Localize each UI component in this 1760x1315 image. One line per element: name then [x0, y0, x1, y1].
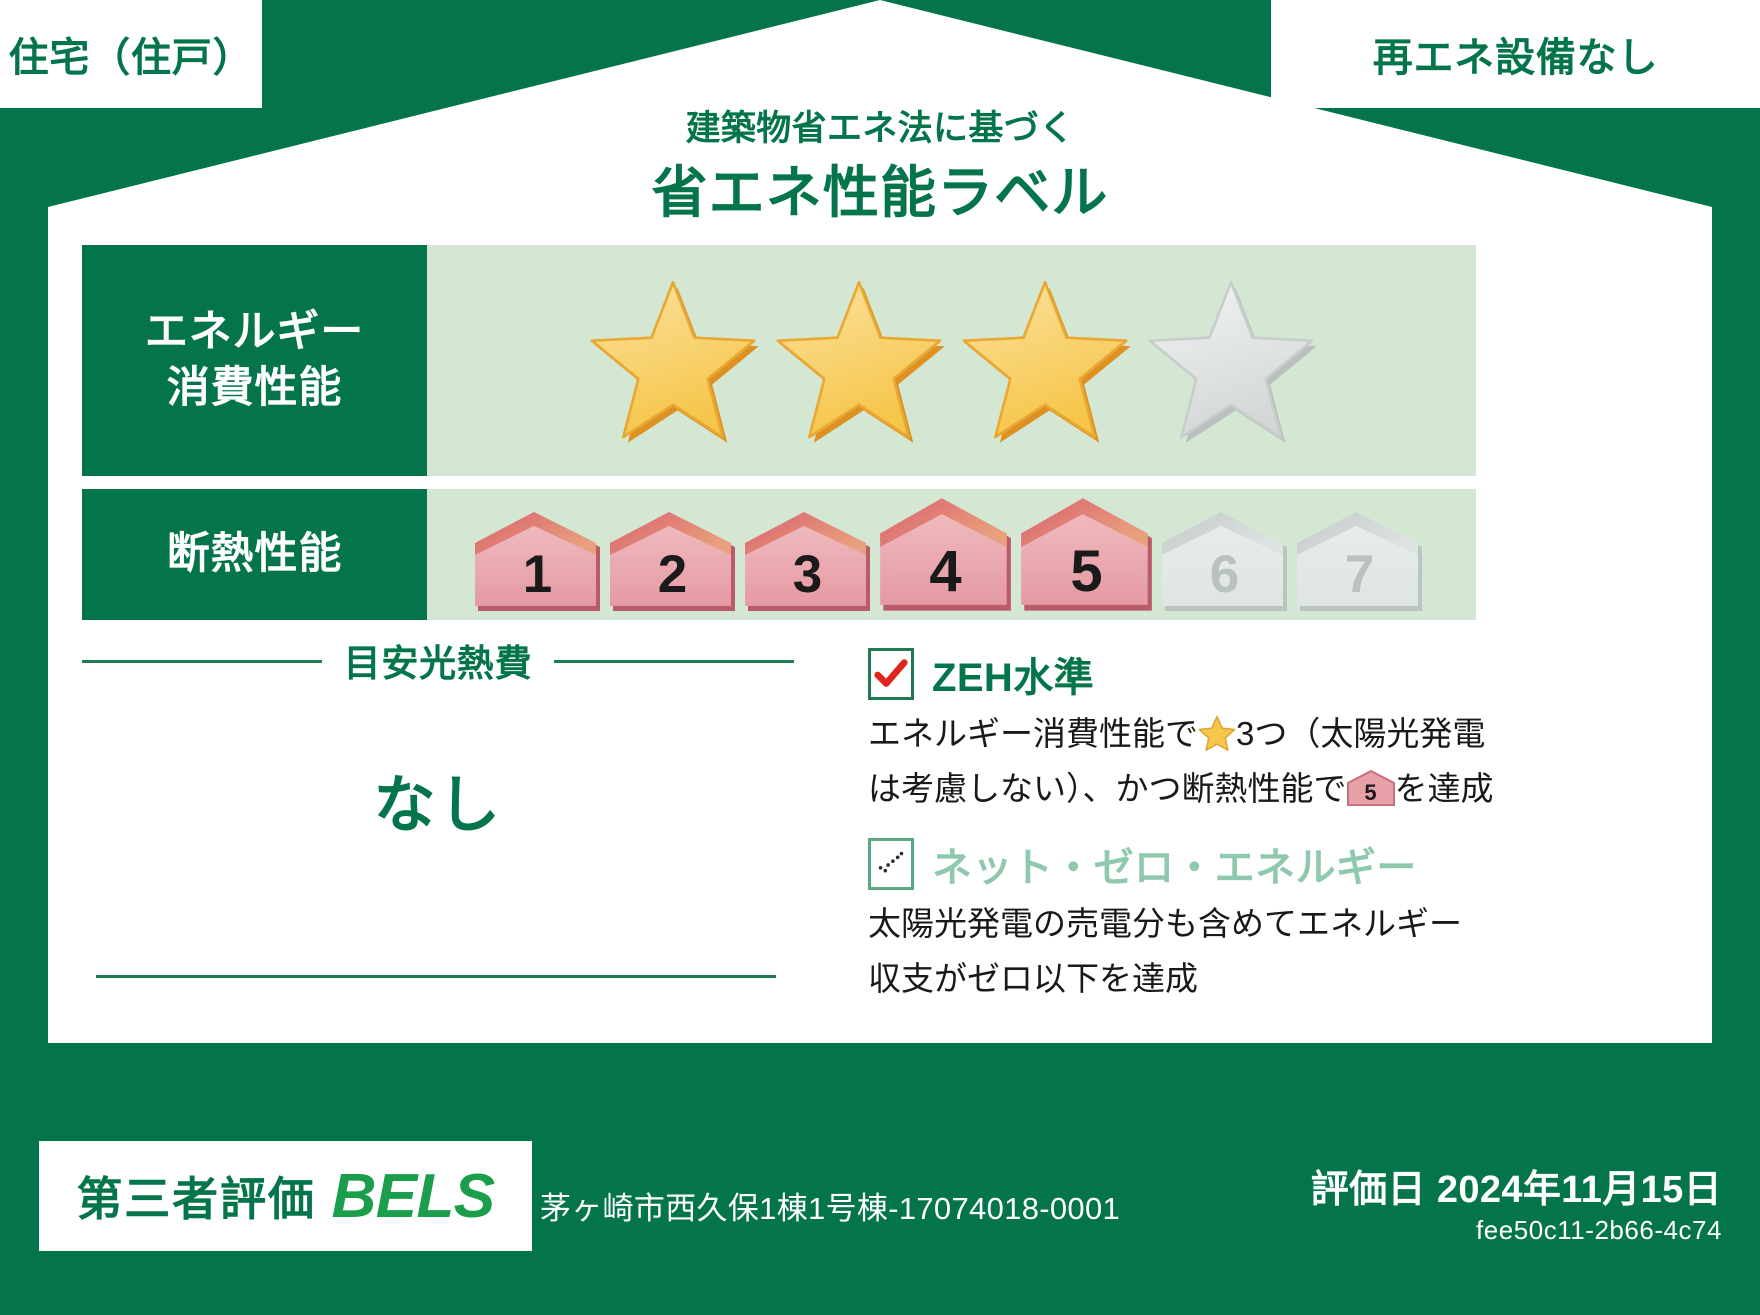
- evaluation-date: 評価日 2024年11月15日: [1311, 1158, 1722, 1213]
- utility-cost-heading: 目安光熱費: [330, 633, 547, 687]
- building-identifier: 茅ヶ崎市西久保1棟1号棟-17074018-0001: [540, 1183, 1120, 1228]
- star-empty-icon: [1143, 277, 1319, 445]
- utility-cost-block: 目安光熱費 なし: [82, 638, 794, 978]
- insulation-level-number: 6: [1159, 548, 1290, 601]
- star-filled-icon: [585, 277, 761, 445]
- criterion-zeh-header: ZEH水準: [868, 645, 1488, 703]
- utility-cost-heading-row: 目安光熱費: [82, 638, 794, 682]
- insulation-house-scale: 1234567: [472, 496, 1425, 614]
- criterion-nze-header: ネット・ゼロ・エネルギー: [868, 835, 1488, 893]
- insulation-level-6: 6: [1159, 510, 1290, 614]
- energy-performance-stars-panel: [427, 245, 1476, 476]
- insulation-level-number: 2: [607, 548, 738, 601]
- badge-renewable-equipment: 再エネ設備なし: [1271, 0, 1760, 108]
- bels-en-text: BELS: [332, 1161, 495, 1232]
- label-subtitle: 建築物省エネ法に基づく: [0, 100, 1760, 151]
- insulation-level-number: 4: [877, 543, 1014, 601]
- heading-rule-left: [82, 660, 322, 663]
- insulation-level-3: 3: [742, 510, 873, 614]
- zeh-desc-1b: 3つ（太陽光発電: [1236, 715, 1485, 752]
- evaluation-date-label: 評価日: [1311, 1169, 1426, 1211]
- utility-cost-value: なし: [82, 754, 794, 844]
- criterion-net-zero-energy: ネット・ゼロ・エネルギー 太陽光発電の売電分も含めてエネルギー 収支がゼロ以下を…: [868, 835, 1488, 1003]
- insulation-performance-label: 断熱性能: [82, 489, 427, 620]
- evaluation-date-value: 2024年11月15日: [1437, 1169, 1722, 1211]
- utility-cost-bottom-rule: [96, 975, 776, 978]
- criterion-zeh-description-line1: エネルギー消費性能で 3つ（太陽光発電: [868, 711, 1488, 758]
- zeh-desc-1a: エネルギー消費性能で: [868, 715, 1198, 752]
- checkbox-unchecked-icon: [868, 838, 914, 890]
- insulation-level-number: 7: [1294, 548, 1425, 601]
- badge-building-type: 住宅（住戸）: [0, 0, 262, 108]
- star-filled-icon: [957, 277, 1133, 445]
- insulation-level-5: 5: [1018, 496, 1155, 614]
- bels-jp-text: 第三者評価: [76, 1163, 315, 1229]
- energy-label-line1: エネルギー: [145, 305, 364, 360]
- insulation-level-4: 4: [877, 496, 1014, 614]
- zeh-desc-2a: は考慮しない）、かつ断熱性能で: [868, 770, 1347, 807]
- insulation-level-7: 7: [1294, 510, 1425, 614]
- insulation-level-number: 1: [472, 548, 603, 601]
- bels-energy-label: 住宅（住戸） 再エネ設備なし 建築物省エネ法に基づく 省エネ性能ラベル エネルギ…: [0, 0, 1760, 1315]
- star-filled-icon: [771, 277, 947, 445]
- energy-performance-row: エネルギー 消費性能: [82, 245, 1476, 476]
- energy-label-line2: 消費性能: [167, 361, 342, 416]
- inline-house-number: 5: [1347, 782, 1395, 804]
- insulation-level-2: 2: [607, 510, 738, 614]
- zeh-desc-2b: を達成: [1395, 770, 1494, 807]
- criterion-nze-title: ネット・ゼロ・エネルギー: [932, 835, 1417, 893]
- insulation-performance-scale-panel: 1234567: [427, 489, 1476, 620]
- star-rating: [585, 277, 1319, 445]
- checkbox-checked-icon: [868, 648, 914, 700]
- evaluation-uuid: fee50c11-2b66-4c74: [1476, 1215, 1722, 1246]
- criterion-nze-description-line1: 太陽光発電の売電分も含めてエネルギー: [868, 901, 1488, 948]
- heading-rule-right: [554, 660, 794, 663]
- inline-star-icon: [1198, 715, 1236, 751]
- inline-house-icon: 5: [1347, 770, 1395, 806]
- insulation-level-number: 3: [742, 548, 873, 601]
- insulation-label-text: 断熱性能: [167, 527, 342, 582]
- criterion-zeh: ZEH水準 エネルギー消費性能で 3つ（太陽光発電 は考慮しない）、かつ断熱性能…: [868, 645, 1488, 813]
- bels-logo: 第三者評価 BELS: [39, 1141, 532, 1251]
- criterion-zeh-description-line2: は考慮しない）、かつ断熱性能で 5 を達成: [868, 766, 1488, 813]
- label-main-title: 省エネ性能ラベル: [0, 148, 1760, 229]
- footer-bar: 第三者評価 BELS 茅ヶ崎市西久保1棟1号棟-17074018-0001 評価…: [0, 1043, 1760, 1315]
- criteria-block: ZEH水準 エネルギー消費性能で 3つ（太陽光発電 は考慮しない）、かつ断熱性能…: [868, 645, 1488, 1010]
- insulation-level-number: 5: [1018, 543, 1155, 601]
- criterion-zeh-title: ZEH水準: [932, 645, 1094, 703]
- insulation-level-1: 1: [472, 510, 603, 614]
- energy-performance-label: エネルギー 消費性能: [82, 245, 427, 476]
- insulation-performance-row: 断熱性能 1234567: [82, 489, 1476, 620]
- criterion-nze-description-line2: 収支がゼロ以下を達成: [868, 956, 1488, 1003]
